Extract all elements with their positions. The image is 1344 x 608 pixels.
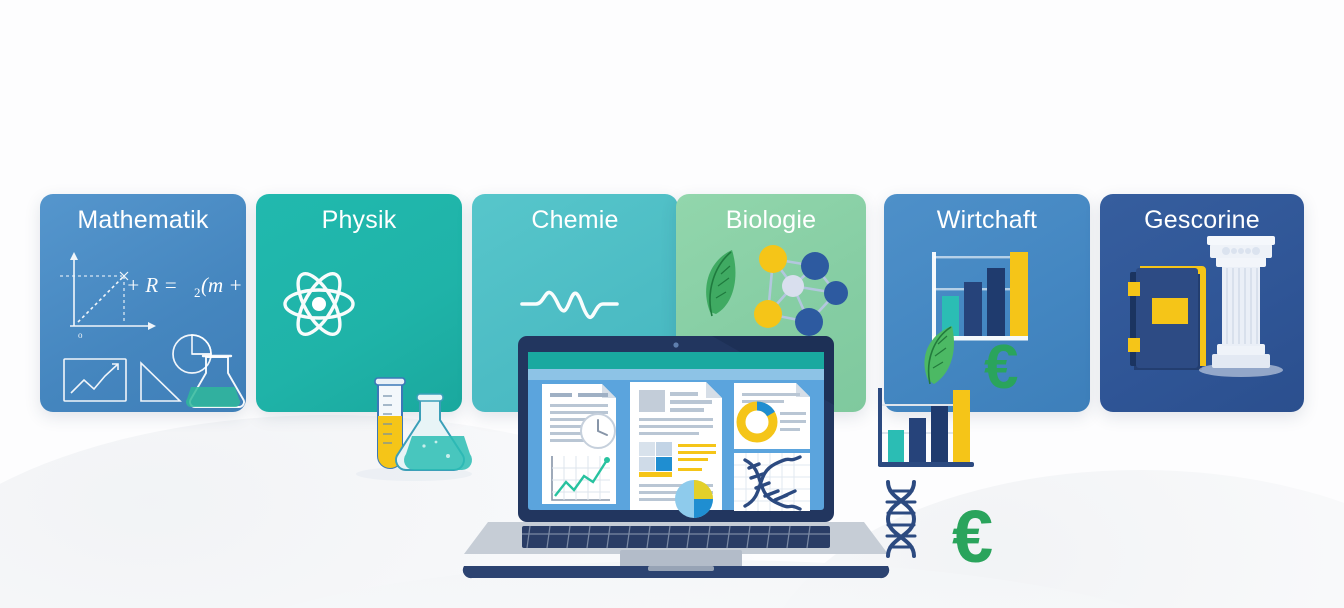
- book-icon: [1128, 266, 1206, 370]
- hero-illustration: Mathematik o + R = 2 (m + 1) =: [0, 0, 1344, 608]
- svg-text:(m + 1) =: (m + 1) =: [201, 273, 246, 297]
- screen-document-left: [542, 384, 616, 504]
- bar-chart-icon: [932, 252, 1028, 341]
- screen-document-top-right: [734, 383, 810, 449]
- svg-text:2: 2: [194, 285, 201, 300]
- molecule-network-icon: [754, 245, 848, 336]
- subject-card-gescorine[interactable]: Gescorine: [1100, 194, 1304, 412]
- laptop-illustration: [462, 336, 890, 584]
- subject-card-mathematik[interactable]: Mathematik o + R = 2 (m + 1) =: [40, 194, 246, 412]
- pie-chart: [675, 480, 713, 518]
- bar-1: [888, 430, 904, 462]
- flask-icon: [396, 394, 472, 470]
- foreground-euro-symbol: €: [952, 500, 993, 574]
- leaf-icon: [924, 326, 954, 384]
- flask-icon: [186, 356, 244, 407]
- bar-4: [953, 390, 970, 462]
- screen-document-center: [630, 382, 722, 518]
- waveform-icon: [522, 292, 617, 317]
- wirtchaft-artwork: €: [884, 194, 1090, 412]
- euro-icon: €: [984, 333, 1018, 402]
- bar-3: [931, 406, 948, 462]
- screen-document-bottom-right: [734, 453, 810, 511]
- leaf-icon: [706, 250, 735, 316]
- bar-2: [909, 418, 926, 462]
- greek-column-icon: [1199, 236, 1283, 377]
- clock-icon: [581, 414, 615, 448]
- subject-card-wirtchaft[interactable]: Wirtchaft €: [884, 194, 1090, 412]
- foreground-dna-helix: [872, 478, 930, 565]
- triangle-icon: [141, 363, 180, 401]
- foreground-bar-chart: [866, 386, 986, 486]
- math-formula: + R =: [126, 273, 178, 297]
- svg-text:o: o: [78, 330, 83, 340]
- mathematik-artwork: o + R = 2 (m + 1) =: [40, 194, 246, 412]
- gescorine-artwork: [1100, 194, 1304, 412]
- line-chart-icon: [64, 359, 126, 401]
